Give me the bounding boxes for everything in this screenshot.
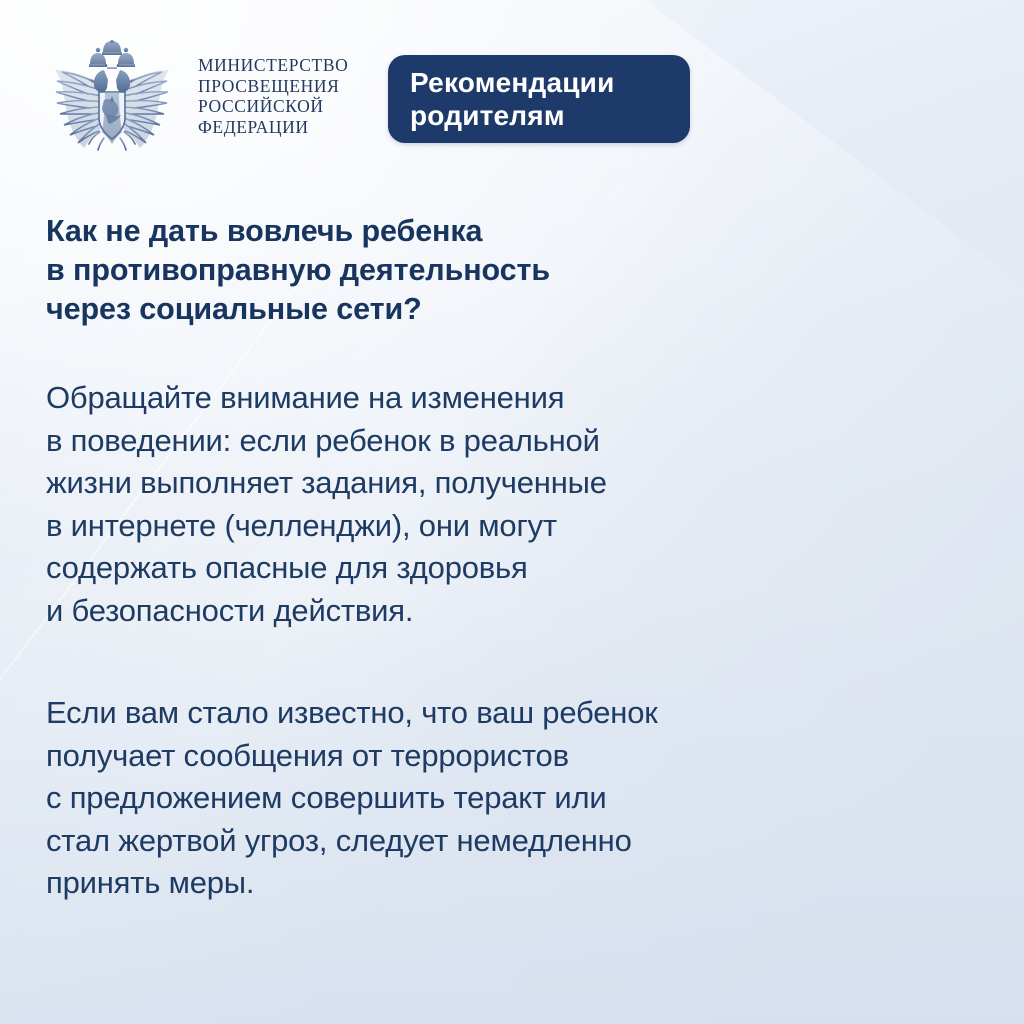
paragraph-line: Если вам стало известно, что ваш ребенок bbox=[46, 692, 806, 735]
paragraph-line: содержать опасные для здоровья bbox=[46, 547, 806, 590]
ministry-name-line: ФЕДЕРАЦИИ bbox=[198, 118, 348, 138]
paragraph-line: и безопасности действия. bbox=[46, 590, 806, 633]
page-title-line: в противоправную деятельность bbox=[46, 251, 806, 290]
main-content: Как не дать вовлечь ребенка в противопра… bbox=[46, 212, 806, 905]
badge-label-line: родителям bbox=[410, 99, 690, 132]
paragraph-line: с предложением совершить теракт или bbox=[46, 777, 806, 820]
russian-federation-double-headed-eagle-emblem bbox=[42, 40, 182, 158]
paragraph-take-measures: Если вам стало известно, что ваш ребенок… bbox=[46, 692, 806, 905]
paragraph-line: в интернете (челленджи), они могут bbox=[46, 505, 806, 548]
ministry-name-line: ПРОСВЕЩЕНИЯ bbox=[198, 77, 348, 97]
page-title: Как не дать вовлечь ребенка в противопра… bbox=[46, 212, 806, 329]
paragraph-line: получает сообщения от террористов bbox=[46, 735, 806, 778]
header: МИНИСТЕРСТВО ПРОСВЕЩЕНИЯ РОССИЙСКОЙ ФЕДЕ… bbox=[42, 40, 348, 158]
paragraph-line: жизни выполняет задания, полученные bbox=[46, 462, 806, 505]
ministry-name: МИНИСТЕРСТВО ПРОСВЕЩЕНИЯ РОССИЙСКОЙ ФЕДЕ… bbox=[198, 56, 348, 137]
paragraph-line: Обращайте внимание на изменения bbox=[46, 377, 806, 420]
paragraph-line: стал жертвой угроз, следует немедленно bbox=[46, 820, 806, 863]
paragraph-line: в поведении: если ребенок в реальной bbox=[46, 420, 806, 463]
paragraph-line: принять меры. bbox=[46, 862, 806, 905]
ministry-name-line: МИНИСТЕРСТВО bbox=[198, 56, 348, 76]
body-text: Обращайте внимание на изменения в поведе… bbox=[46, 377, 806, 905]
paragraph-behaviour-changes: Обращайте внимание на изменения в поведе… bbox=[46, 377, 806, 632]
badge-label-line: Рекомендации bbox=[410, 66, 690, 99]
page-title-line: Как не дать вовлечь ребенка bbox=[46, 212, 806, 251]
page-title-line: через социальные сети? bbox=[46, 290, 806, 329]
ministry-name-line: РОССИЙСКОЙ bbox=[198, 97, 348, 117]
recommendations-badge: Рекомендации родителям bbox=[388, 55, 690, 143]
poster-root: МИНИСТЕРСТВО ПРОСВЕЩЕНИЯ РОССИЙСКОЙ ФЕДЕ… bbox=[0, 0, 1024, 1024]
